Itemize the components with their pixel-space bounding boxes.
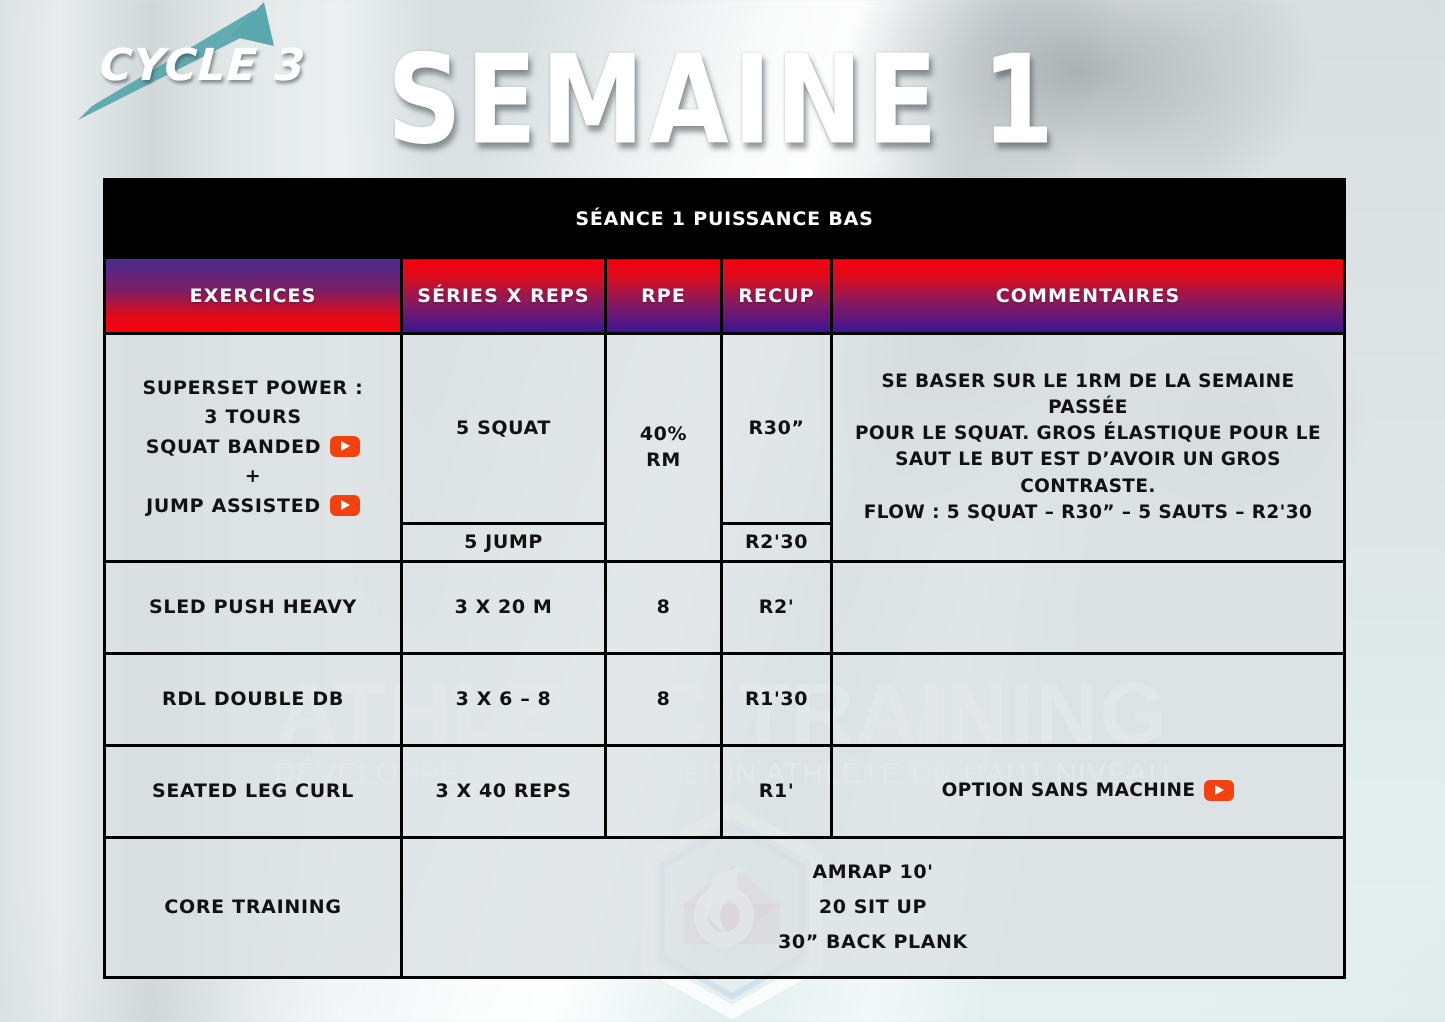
table-row-session-banner: SÉANCE 1 PUISSANCE BAS xyxy=(105,180,1345,258)
comment-label: OPTION SANS MACHINE xyxy=(942,780,1196,801)
comment-option-sans-machine: OPTION SANS MACHINE xyxy=(942,780,1235,801)
cell-exercise-superset: SUPERSET POWER : 3 TOURS SQUAT BANDED + … xyxy=(105,334,402,562)
comment-line-flow: FLOW : 5 SQUAT – R30” – 5 SAUTS – R2'30 xyxy=(839,500,1337,526)
table-row-sled-push-heavy: SLED PUSH HEAVY 3 X 20 M 8 R2' xyxy=(105,561,1345,653)
cell-rpe-leg-curl xyxy=(606,745,722,837)
youtube-play-icon[interactable] xyxy=(1204,780,1234,801)
core-line: AMRAP 10' xyxy=(409,855,1337,890)
exercise-line: 3 TOURS xyxy=(112,403,394,432)
cell-series-reps-rdl: 3 X 6 – 8 xyxy=(402,653,606,745)
core-line: 30” BACK PLANK xyxy=(409,925,1337,960)
cell-rpe-rdl: 8 xyxy=(606,653,722,745)
workout-program-table: SÉANCE 1 PUISSANCE BAS EXERCICES SÉRIES … xyxy=(103,178,1346,979)
table-row-core-training: CORE TRAINING AMRAP 10' 20 SIT UP 30” BA… xyxy=(105,837,1345,977)
core-line: 20 SIT UP xyxy=(409,890,1337,925)
column-header-rpe: RPE xyxy=(606,258,722,334)
table-row-rdl-double-db: RDL DOUBLE DB 3 X 6 – 8 8 R1'30 xyxy=(105,653,1345,745)
cell-recup-r230: R2'30 xyxy=(722,524,832,562)
exercise-line-plus: + xyxy=(112,462,394,491)
cell-core-training-content: AMRAP 10' 20 SIT UP 30” BACK PLANK xyxy=(402,837,1345,977)
cell-series-reps-sled: 3 X 20 M xyxy=(402,561,606,653)
table-header-row: EXERCICES SÉRIES X REPS RPE RECUP COMMEN… xyxy=(105,258,1345,334)
session-banner-label: SÉANCE 1 PUISSANCE BAS xyxy=(105,180,1345,258)
cell-series-reps-5-jump: 5 JUMP xyxy=(402,524,606,562)
cell-exercise-sled-push: SLED PUSH HEAVY xyxy=(105,561,402,653)
cell-recup-sled: R2' xyxy=(722,561,832,653)
comment-line: POUR LE SQUAT. GROS ÉLASTIQUE POUR LE xyxy=(839,421,1337,447)
comment-line: SE BASER SUR LE 1RM DE LA SEMAINE PASSÉE xyxy=(839,369,1337,422)
table-row-superset-power: SUPERSET POWER : 3 TOURS SQUAT BANDED + … xyxy=(105,334,1345,524)
cell-recup-r30: R30” xyxy=(722,334,832,524)
exercise-line: SUPERSET POWER : xyxy=(112,374,394,403)
table-row-seated-leg-curl: SEATED LEG CURL 3 X 40 REPS R1' OPTION S… xyxy=(105,745,1345,837)
rpe-line-1: 40% xyxy=(613,421,714,448)
cell-series-reps-5-squat: 5 SQUAT xyxy=(402,334,606,524)
cell-rpe-superset: 40% RM xyxy=(606,334,722,562)
cell-comment-superset: SE BASER SUR LE 1RM DE LA SEMAINE PASSÉE… xyxy=(832,334,1345,562)
cell-recup-rdl: R1'30 xyxy=(722,653,832,745)
column-header-series-reps: SÉRIES X REPS xyxy=(402,258,606,334)
youtube-play-icon[interactable] xyxy=(330,495,360,516)
column-header-recup: RECUP xyxy=(722,258,832,334)
cell-comment-rdl xyxy=(832,653,1345,745)
cell-comment-sled xyxy=(832,561,1345,653)
rpe-line-2: RM xyxy=(613,447,714,474)
column-header-commentaires: COMMENTAIRES xyxy=(832,258,1345,334)
cell-exercise-rdl: RDL DOUBLE DB xyxy=(105,653,402,745)
exercise-line-with-video: JUMP ASSISTED xyxy=(112,492,394,521)
exercise-line-with-video: SQUAT BANDED xyxy=(112,433,394,462)
cell-exercise-core-training: CORE TRAINING xyxy=(105,837,402,977)
exercise-label-squat-banded: SQUAT BANDED xyxy=(146,436,322,458)
comment-line: CONTRASTE. xyxy=(839,474,1337,500)
youtube-play-icon[interactable] xyxy=(330,436,360,457)
cell-comment-leg-curl: OPTION SANS MACHINE xyxy=(832,745,1345,837)
cell-rpe-sled: 8 xyxy=(606,561,722,653)
cell-recup-leg-curl: R1' xyxy=(722,745,832,837)
comment-line: SAUT LE BUT EST D’AVOIR UN GROS xyxy=(839,447,1337,473)
cell-exercise-leg-curl: SEATED LEG CURL xyxy=(105,745,402,837)
column-header-exercices: EXERCICES xyxy=(105,258,402,334)
exercise-label-jump-assisted: JUMP ASSISTED xyxy=(146,495,321,517)
page-title: SEMAINE 1 xyxy=(0,28,1445,172)
cell-series-reps-leg-curl: 3 X 40 REPS xyxy=(402,745,606,837)
